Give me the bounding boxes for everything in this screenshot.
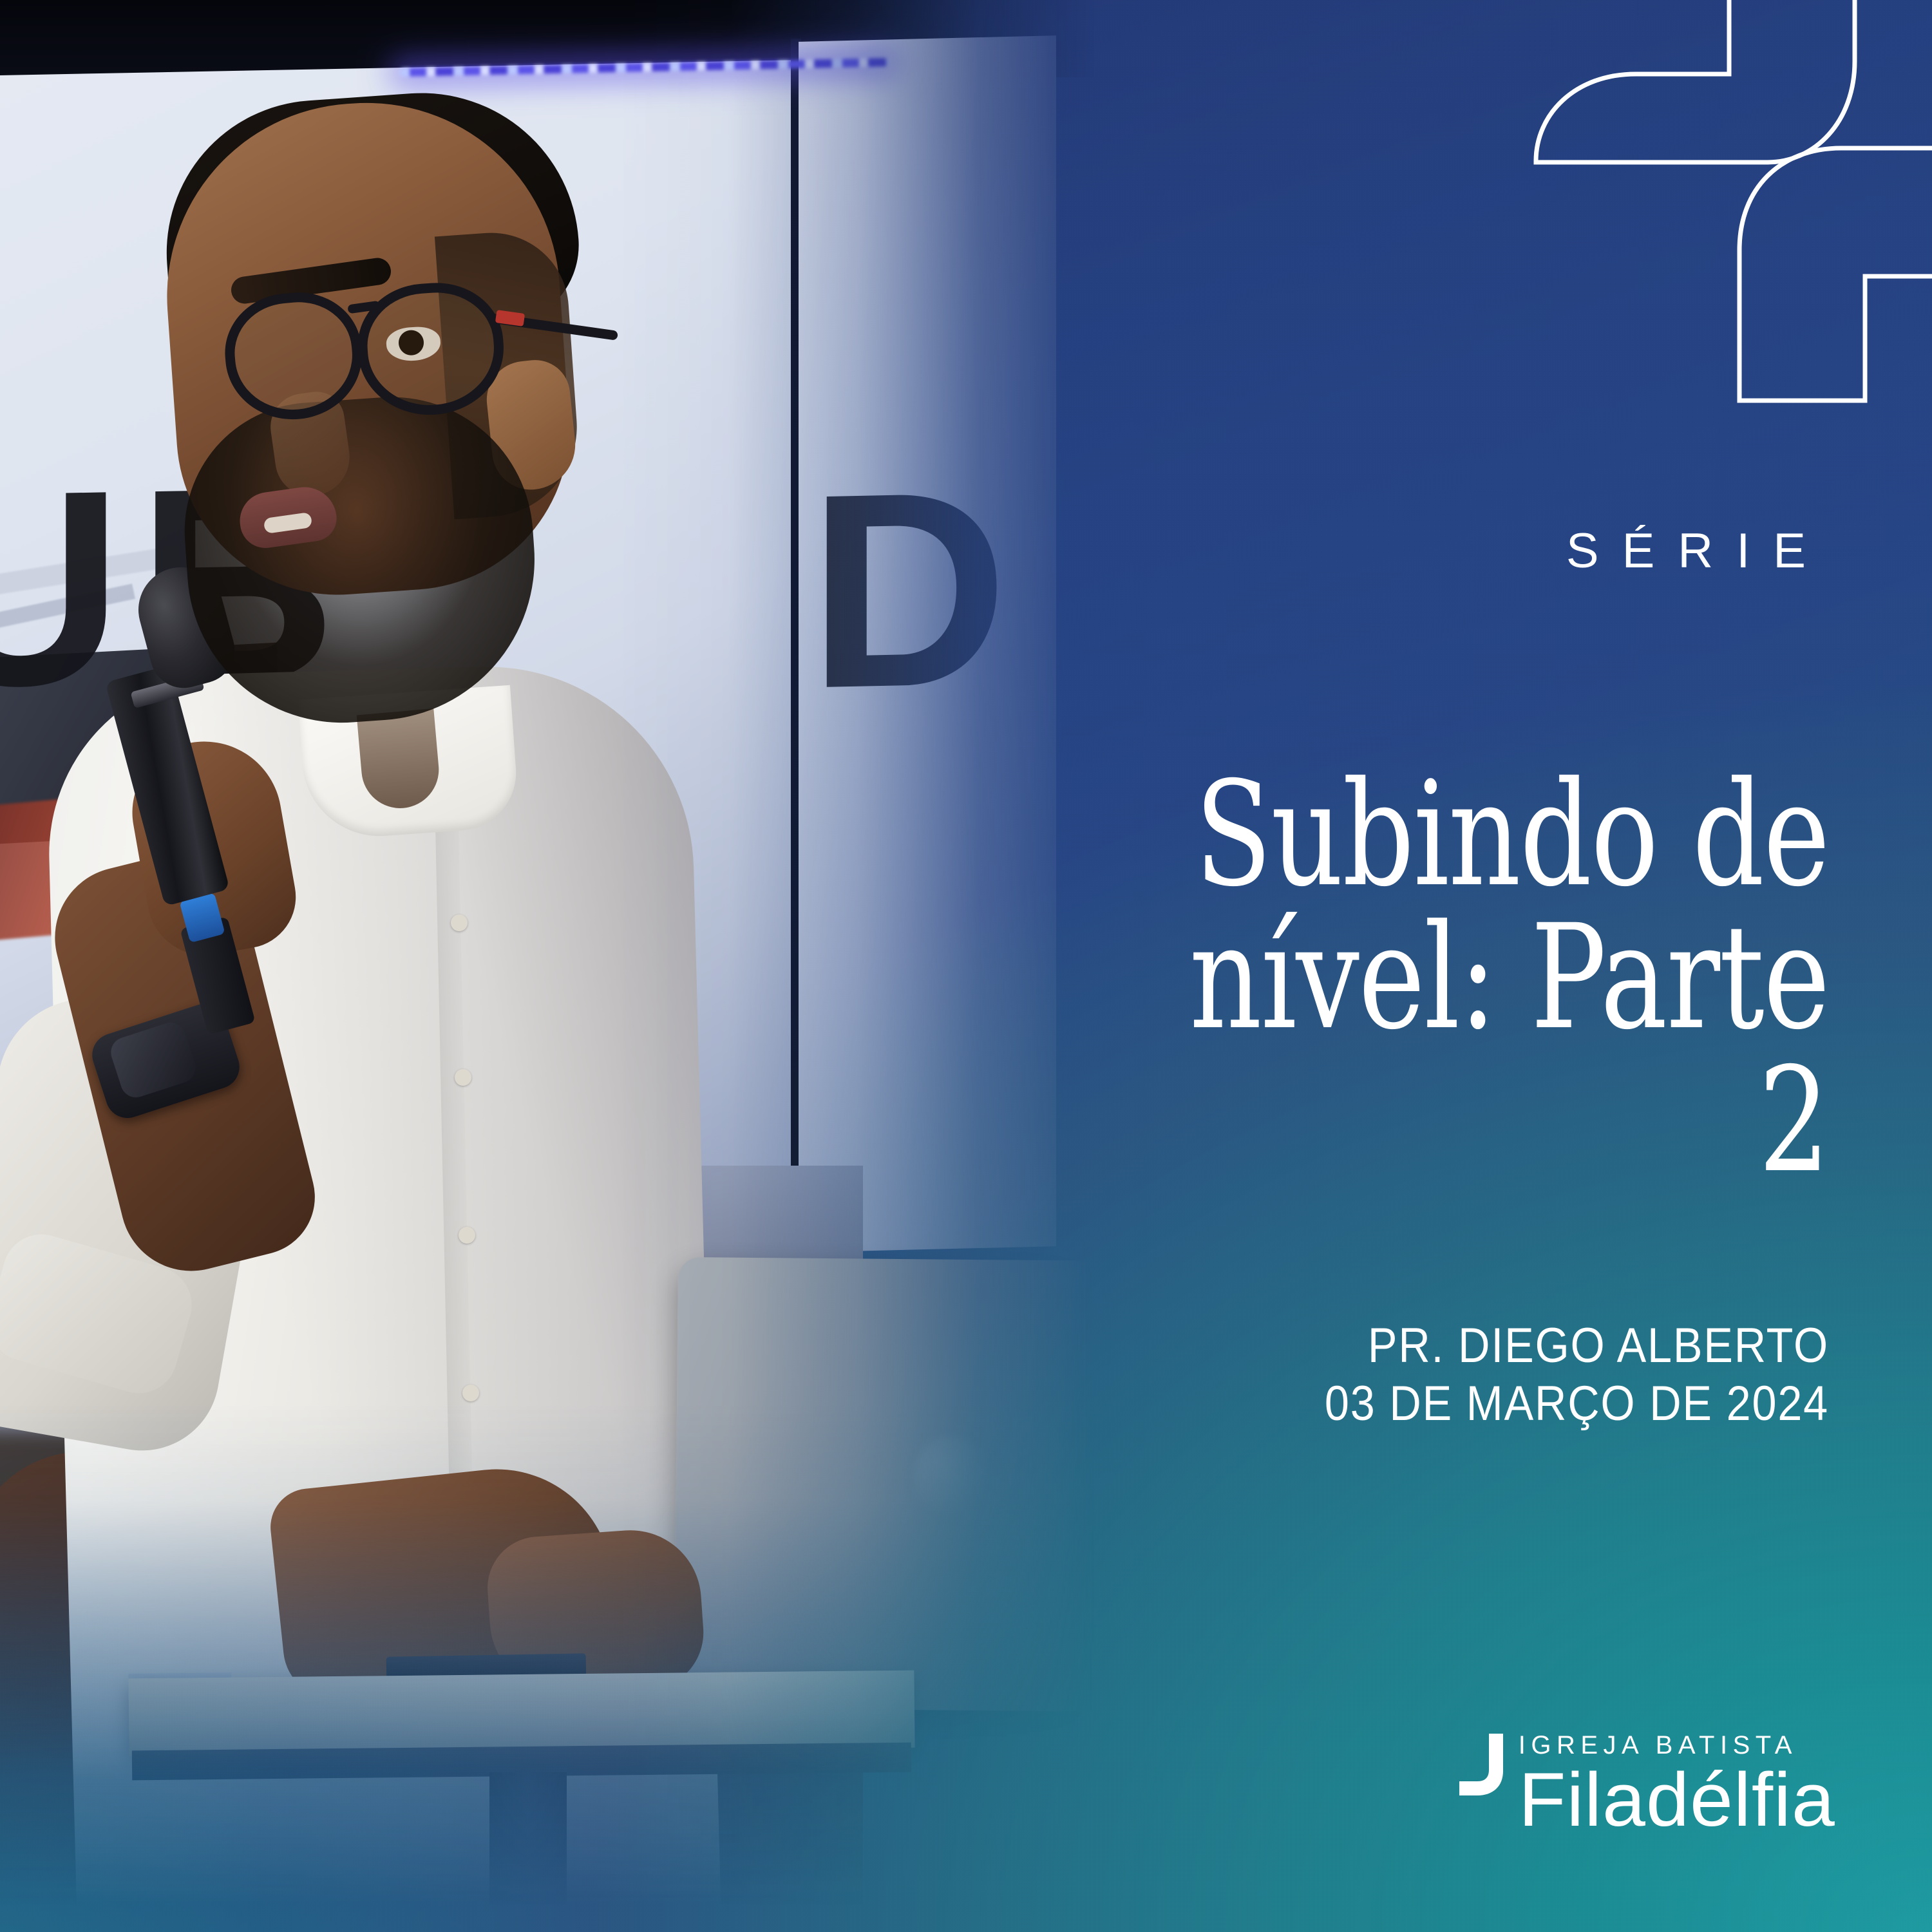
text-panel: SÉRIE Subindo de nível: Parte 2 PR. DIEG… xyxy=(876,0,1829,1932)
sermon-cover-card: UB D xyxy=(0,0,1932,1932)
sermon-meta: PR. DIEGO ALBERTO 03 DE MARÇO DE 2024 xyxy=(1041,1317,1829,1432)
shirt-button xyxy=(462,1385,479,1401)
logo-subtitle: IGREJA BATISTA xyxy=(1519,1732,1829,1758)
church-logo: IGREJA BATISTA Filadélfia xyxy=(1459,1732,1829,1838)
logo-name: Filadélfia xyxy=(1519,1762,1835,1838)
series-label: SÉRIE xyxy=(1543,527,1829,576)
logo-mark-icon xyxy=(1459,1734,1504,1809)
podium-table-top xyxy=(128,1671,914,1756)
speaker-name: PR. DIEGO ALBERTO xyxy=(1368,1318,1829,1373)
shirt-button xyxy=(451,914,468,931)
sermon-title: Subindo de nível: Parte 2 xyxy=(1146,763,1829,1191)
shirt-button xyxy=(455,1069,471,1086)
shirt-button xyxy=(459,1227,475,1244)
hook-cross-icon xyxy=(1459,1734,1504,1806)
sermon-date: 03 DE MARÇO DE 2024 xyxy=(1041,1375,1829,1433)
podium-table-leg xyxy=(489,1772,567,1932)
logo-wordmark: IGREJA BATISTA Filadélfia xyxy=(1519,1732,1829,1838)
